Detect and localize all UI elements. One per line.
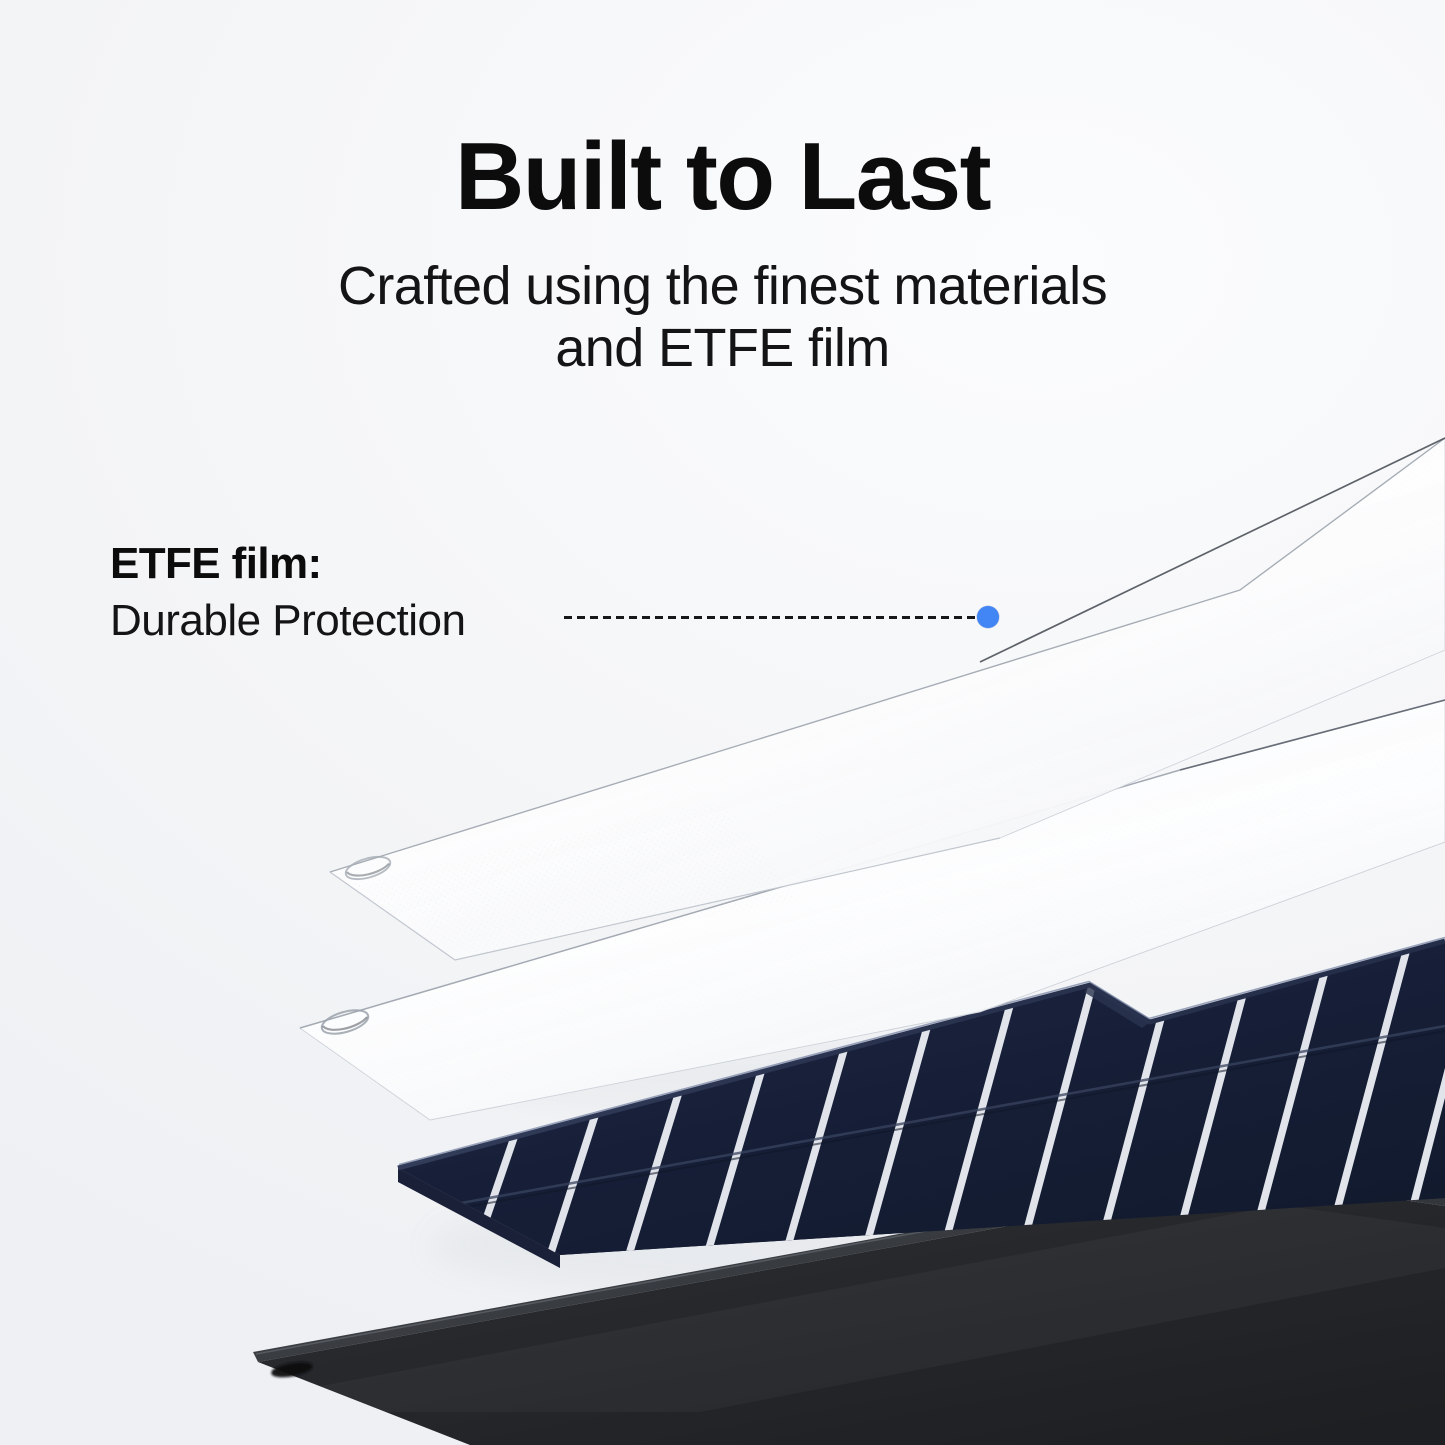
callout-etfe-film: ETFE film: Durable Protection [110,540,580,646]
callout-subtitle: Durable Protection [110,597,580,645]
page-subtitle: Crafted using the finest materials and E… [0,256,1445,379]
callout-title: ETFE film: [110,540,580,588]
page-title: Built to Last [0,126,1445,228]
callout-endpoint-dot [977,606,999,628]
callout-leader-line [564,615,976,619]
page-subtitle-line-2: and ETFE film [0,318,1445,380]
page-subtitle-line-1: Crafted using the finest materials [0,256,1445,318]
product-feature-graphic: Built to Last Crafted using the finest m… [0,0,1445,1445]
